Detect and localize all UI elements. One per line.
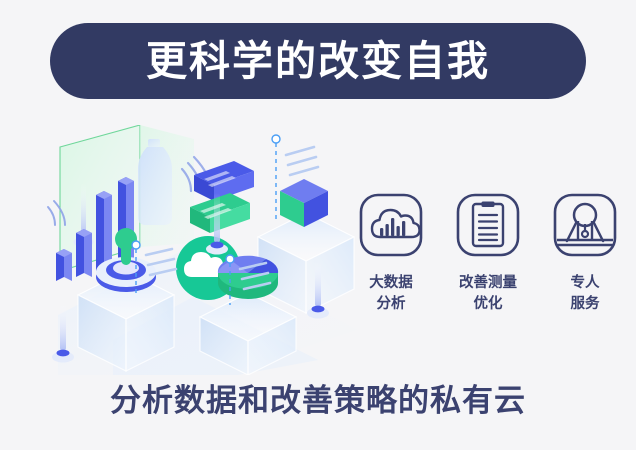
- feature-label-measure-optimize: 改善测量 优化: [459, 273, 517, 314]
- footer-tagline: 分析数据和改善策略的私有云: [0, 386, 636, 417]
- cloud-bar-chart-icon: [359, 193, 423, 257]
- bar-item: [56, 249, 72, 281]
- feature-label-line1: 大数据: [369, 275, 413, 291]
- feature-item-big-data[interactable]: 大数据 分析: [352, 193, 430, 343]
- feature-label-line2: 服务: [571, 296, 600, 312]
- feature-label-big-data: 大数据 分析: [369, 273, 413, 314]
- feature-list: 大数据 分析 改善测量 优化: [352, 193, 624, 343]
- hero-illustration: [18, 125, 358, 375]
- page-title: 更科学的改变自我: [146, 41, 490, 82]
- isometric-scene-svg: [18, 125, 358, 375]
- title-pill: 更科学的改变自我: [50, 23, 586, 99]
- feature-label-dedicated-service: 专人 服务: [571, 273, 600, 314]
- dashed-connector-a: [272, 135, 280, 221]
- promo-banner: 更科学的改变自我: [0, 0, 636, 450]
- feature-item-measure-optimize[interactable]: 改善测量 优化: [449, 193, 527, 343]
- feature-label-line2: 分析: [377, 296, 406, 312]
- feature-label-line1: 专人: [571, 275, 600, 291]
- feature-label-line1: 改善测量: [459, 275, 517, 291]
- callout-lines-a: [286, 147, 318, 175]
- bar-item: [96, 191, 112, 271]
- feature-label-line2: 优化: [474, 296, 503, 312]
- feature-item-dedicated-service[interactable]: 专人 服务: [546, 193, 624, 343]
- bar-item: [76, 229, 92, 277]
- clipboard-icon: [456, 193, 520, 257]
- support-agent-icon: [553, 193, 617, 257]
